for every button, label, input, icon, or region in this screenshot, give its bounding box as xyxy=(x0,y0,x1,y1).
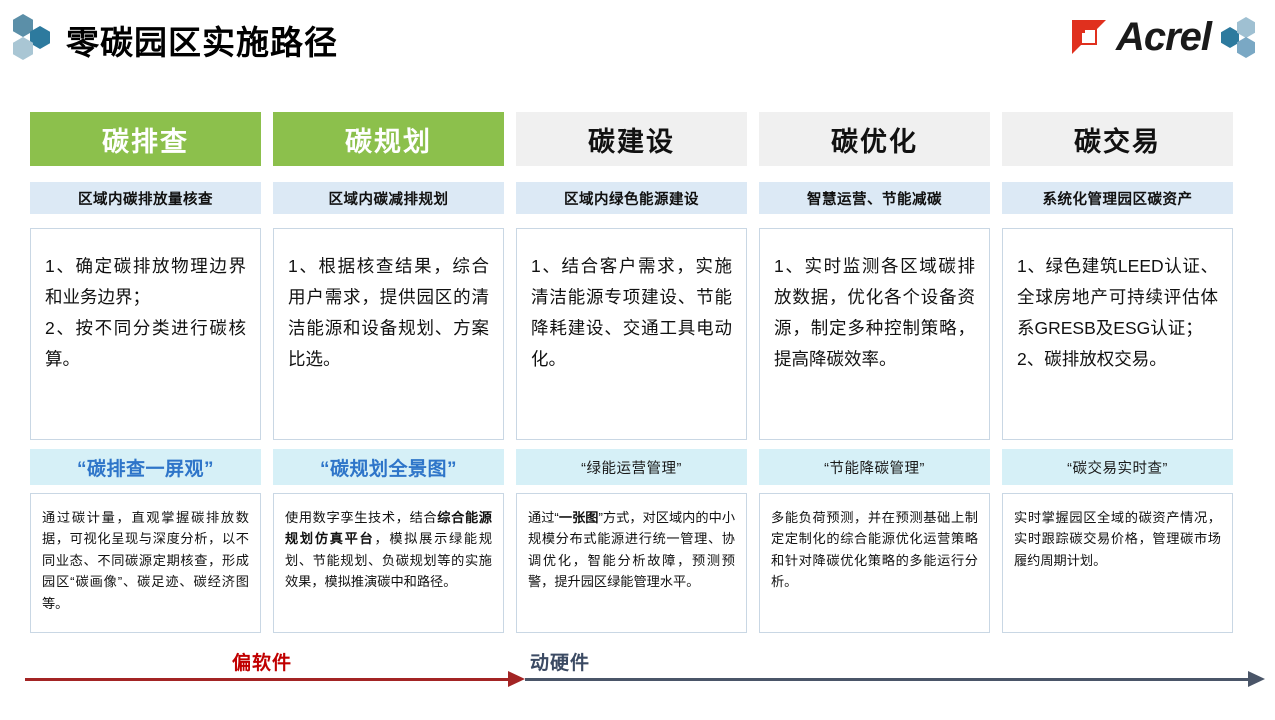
column-product-name[interactable]: “节能降碳管理” xyxy=(759,449,990,485)
roadmap-column: 碳建设区域内绿色能源建设1、结合客户需求，实施清洁能源专项建设、节能降耗建设、交… xyxy=(516,112,747,633)
column-title[interactable]: 碳规划 xyxy=(273,112,504,166)
software-arrow-head-icon xyxy=(508,671,525,687)
column-subtitle: 区域内绿色能源建设 xyxy=(516,182,747,214)
column-product-name[interactable]: “碳排查一屏观” xyxy=(30,449,261,485)
brand-name: Acrel xyxy=(1116,17,1211,57)
hexagon-cluster-icon xyxy=(1221,17,1261,57)
hexagon-cluster-icon xyxy=(13,14,57,62)
roadmap-grid: 碳排查区域内碳排放量核查1、确定碳排放物理边界和业务边界；2、按不同分类进行碳核… xyxy=(30,112,1245,633)
brand-logo: Acrel xyxy=(1072,14,1261,60)
column-description: 实时掌握园区全域的碳资产情况，实时跟踪碳交易价格，管理碳市场履约周期计划。 xyxy=(1002,493,1233,633)
acrel-logo-mark-icon xyxy=(1072,20,1106,54)
logo-square-fill xyxy=(1076,24,1085,33)
hardware-arrow-head-icon xyxy=(1248,671,1265,687)
column-product-name[interactable]: “碳交易实时查” xyxy=(1002,449,1233,485)
phase-arrows: 偏软件 动硬件 xyxy=(0,642,1275,704)
column-body-text: 1、结合客户需求，实施清洁能源专项建设、节能降耗建设、交通工具电动化。 xyxy=(516,228,747,440)
hexagon-icon xyxy=(1237,17,1255,38)
column-body-text: 1、绿色建筑LEED认证、全球房地产可持续评估体系GRESB及ESG认证；2、碳… xyxy=(1002,228,1233,440)
column-body-text: 1、实时监测各区域碳排放数据，优化各个设备资源，制定多种控制策略，提高降碳效率。 xyxy=(759,228,990,440)
roadmap-column: 碳规划区域内碳减排规划1、根据核查结果，综合用户需求，提供园区的清洁能源和设备规… xyxy=(273,112,504,633)
page-header: 零碳园区实施路径 Acrel xyxy=(0,0,1275,88)
column-description: 使用数字孪生技术，结合综合能源规划仿真平台，模拟展示绿能规划、节能规划、负碳规划… xyxy=(273,493,504,633)
column-title[interactable]: 碳优化 xyxy=(759,112,990,166)
column-body-text: 1、根据核查结果，综合用户需求，提供园区的清洁能源和设备规划、方案比选。 xyxy=(273,228,504,440)
page-title: 零碳园区实施路径 xyxy=(66,16,338,64)
software-arrow-line xyxy=(25,678,512,681)
hexagon-icon xyxy=(1221,27,1239,48)
roadmap-column: 碳优化智慧运营、节能减碳1、实时监测各区域碳排放数据，优化各个设备资源，制定多种… xyxy=(759,112,990,633)
column-subtitle: 区域内碳减排规划 xyxy=(273,182,504,214)
column-description: 通过“一张图”方式，对区域内的中小规模分布式能源进行统一管理、协调优化，智能分析… xyxy=(516,493,747,633)
software-arrow-label: 偏软件 xyxy=(232,648,292,675)
column-subtitle: 区域内碳排放量核查 xyxy=(30,182,261,214)
column-title[interactable]: 碳建设 xyxy=(516,112,747,166)
column-description: 多能负荷预测，并在预测基础上制定定制化的综合能源优化运营策略和针对降碳优化策略的… xyxy=(759,493,990,633)
roadmap-column: 碳交易系统化管理园区碳资产1、绿色建筑LEED认证、全球房地产可持续评估体系GR… xyxy=(1002,112,1233,633)
hexagon-icon xyxy=(1237,37,1255,58)
roadmap-column: 碳排查区域内碳排放量核查1、确定碳排放物理边界和业务边界；2、按不同分类进行碳核… xyxy=(30,112,261,633)
column-product-name[interactable]: “绿能运营管理” xyxy=(516,449,747,485)
column-description: 通过碳计量，直观掌握碳排放数据，可视化呈现与深度分析，以不同业态、不同碳源定期核… xyxy=(30,493,261,633)
column-subtitle: 系统化管理园区碳资产 xyxy=(1002,182,1233,214)
column-title[interactable]: 碳交易 xyxy=(1002,112,1233,166)
column-body-text: 1、确定碳排放物理边界和业务边界；2、按不同分类进行碳核算。 xyxy=(30,228,261,440)
column-subtitle: 智慧运营、节能减碳 xyxy=(759,182,990,214)
hardware-arrow-line xyxy=(525,678,1251,681)
column-title[interactable]: 碳排查 xyxy=(30,112,261,166)
hexagon-icon xyxy=(30,26,50,49)
hardware-arrow-label: 动硬件 xyxy=(530,648,590,675)
column-product-name[interactable]: “碳规划全景图” xyxy=(273,449,504,485)
